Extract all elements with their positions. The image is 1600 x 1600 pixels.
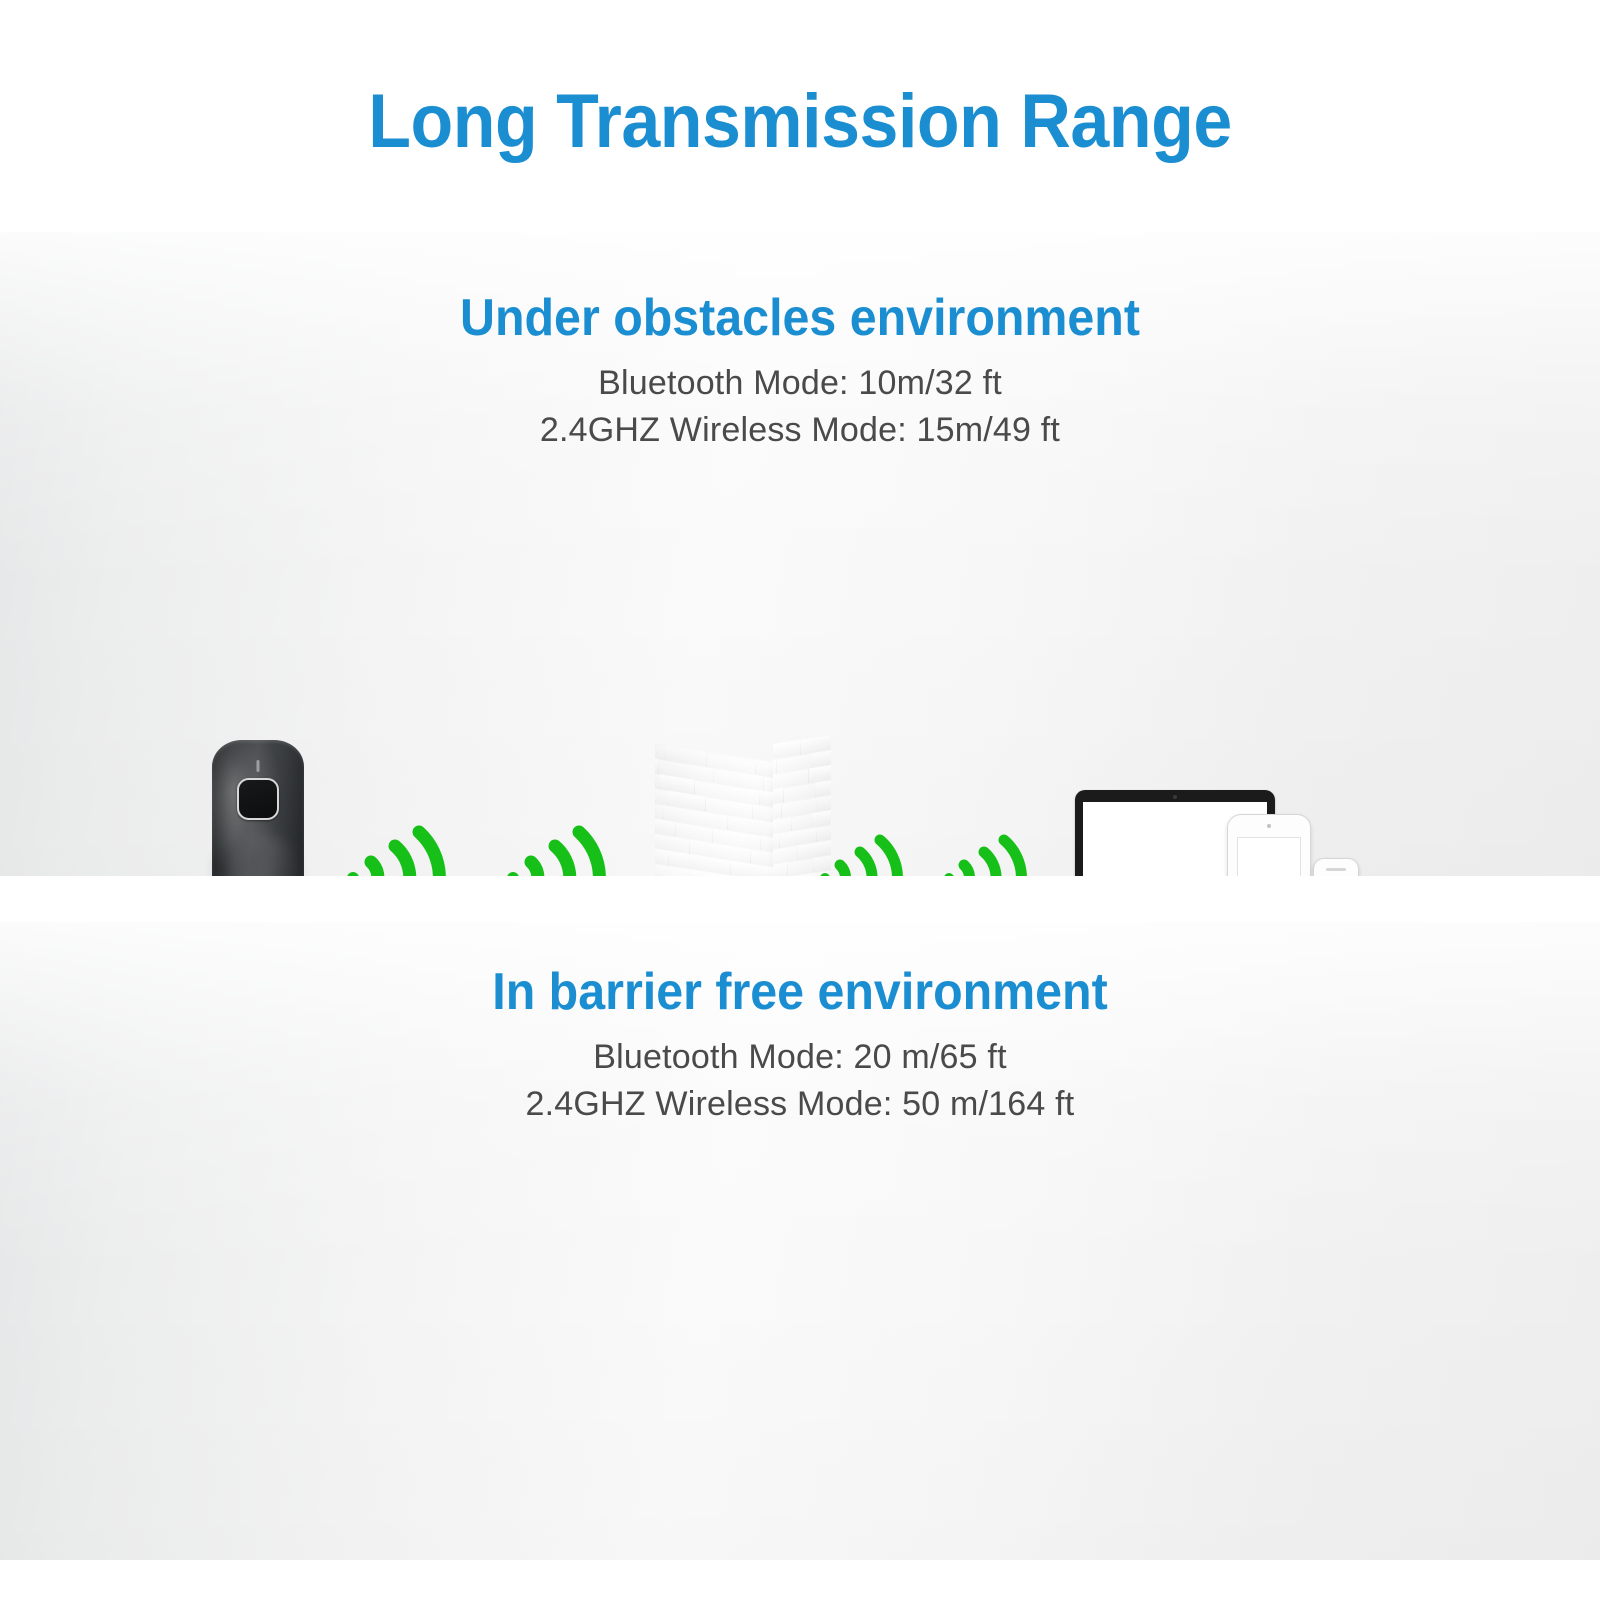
- brick-wall-obstacle: [655, 744, 835, 876]
- spec-line-bluetooth-barrier-free: Bluetooth Mode: 20 m/65 ft: [0, 1038, 1600, 1077]
- smartphone-device: [1313, 858, 1359, 876]
- scanner-scan-button[interactable]: [237, 778, 279, 820]
- section-heading-in-barrier-free: In barrier free environment: [56, 962, 1544, 1022]
- receiving-device-cluster: [1075, 790, 1375, 876]
- signal-wave-icon-1: [345, 832, 445, 876]
- tablet-camera-icon: [1267, 824, 1271, 828]
- spec-line-bluetooth-obstacles: Bluetooth Mode: 10m/32 ft: [0, 364, 1600, 403]
- signal-wave-icon-3: [818, 840, 898, 876]
- brick-wall-front-face: [655, 743, 773, 876]
- section-heading-under-obstacles: Under obstacles environment: [56, 288, 1544, 348]
- phone-speaker-grille: [1326, 868, 1346, 871]
- laptop-camera-icon: [1173, 795, 1177, 799]
- tablet-screen: [1237, 837, 1301, 876]
- signal-wave-icon-4: [942, 840, 1022, 876]
- tablet-device: [1227, 814, 1311, 876]
- signal-wave-icon-2: [505, 832, 605, 876]
- barcode-scanner-device: [212, 740, 304, 876]
- spec-line-wireless-barrier-free: 2.4GHZ Wireless Mode: 50 m/164 ft: [0, 1085, 1600, 1124]
- page-title: Long Transmission Range: [64, 78, 1536, 165]
- scanner-led-indicator: [257, 760, 260, 772]
- spec-line-wireless-obstacles: 2.4GHZ Wireless Mode: 15m/49 ft: [0, 411, 1600, 450]
